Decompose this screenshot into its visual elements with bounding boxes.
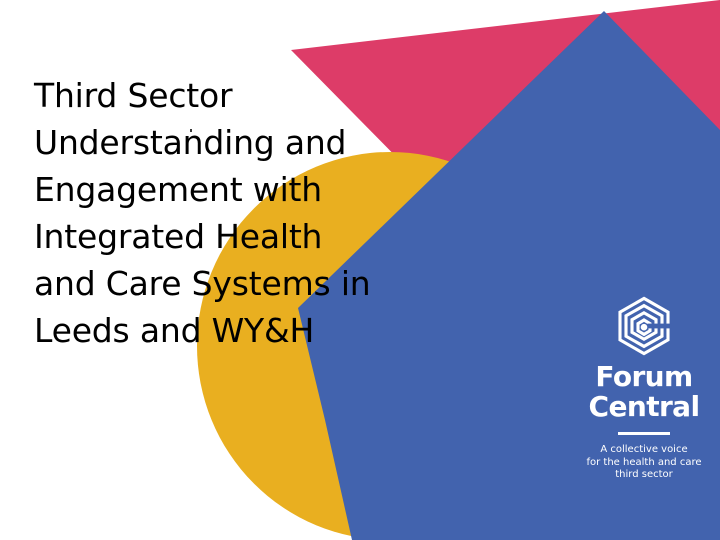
slide-title-block: Third Sector Understanding and Engagemen…: [34, 72, 454, 354]
logo-wordmark-line2: Central: [578, 392, 710, 422]
logo-tagline: A collective voice for the health and ca…: [578, 444, 710, 482]
forum-central-hexagon-spiral-icon: [614, 296, 674, 356]
logo-wordmark-line1: Forum: [578, 362, 710, 392]
logo-divider: [618, 432, 670, 435]
speck-artifact: [190, 129, 192, 132]
page-title: Third Sector Understanding and Engagemen…: [34, 72, 454, 354]
presentation-slide: Third Sector Understanding and Engagemen…: [0, 0, 720, 540]
forum-central-logo: Forum Central A collective voice for the…: [578, 296, 710, 482]
